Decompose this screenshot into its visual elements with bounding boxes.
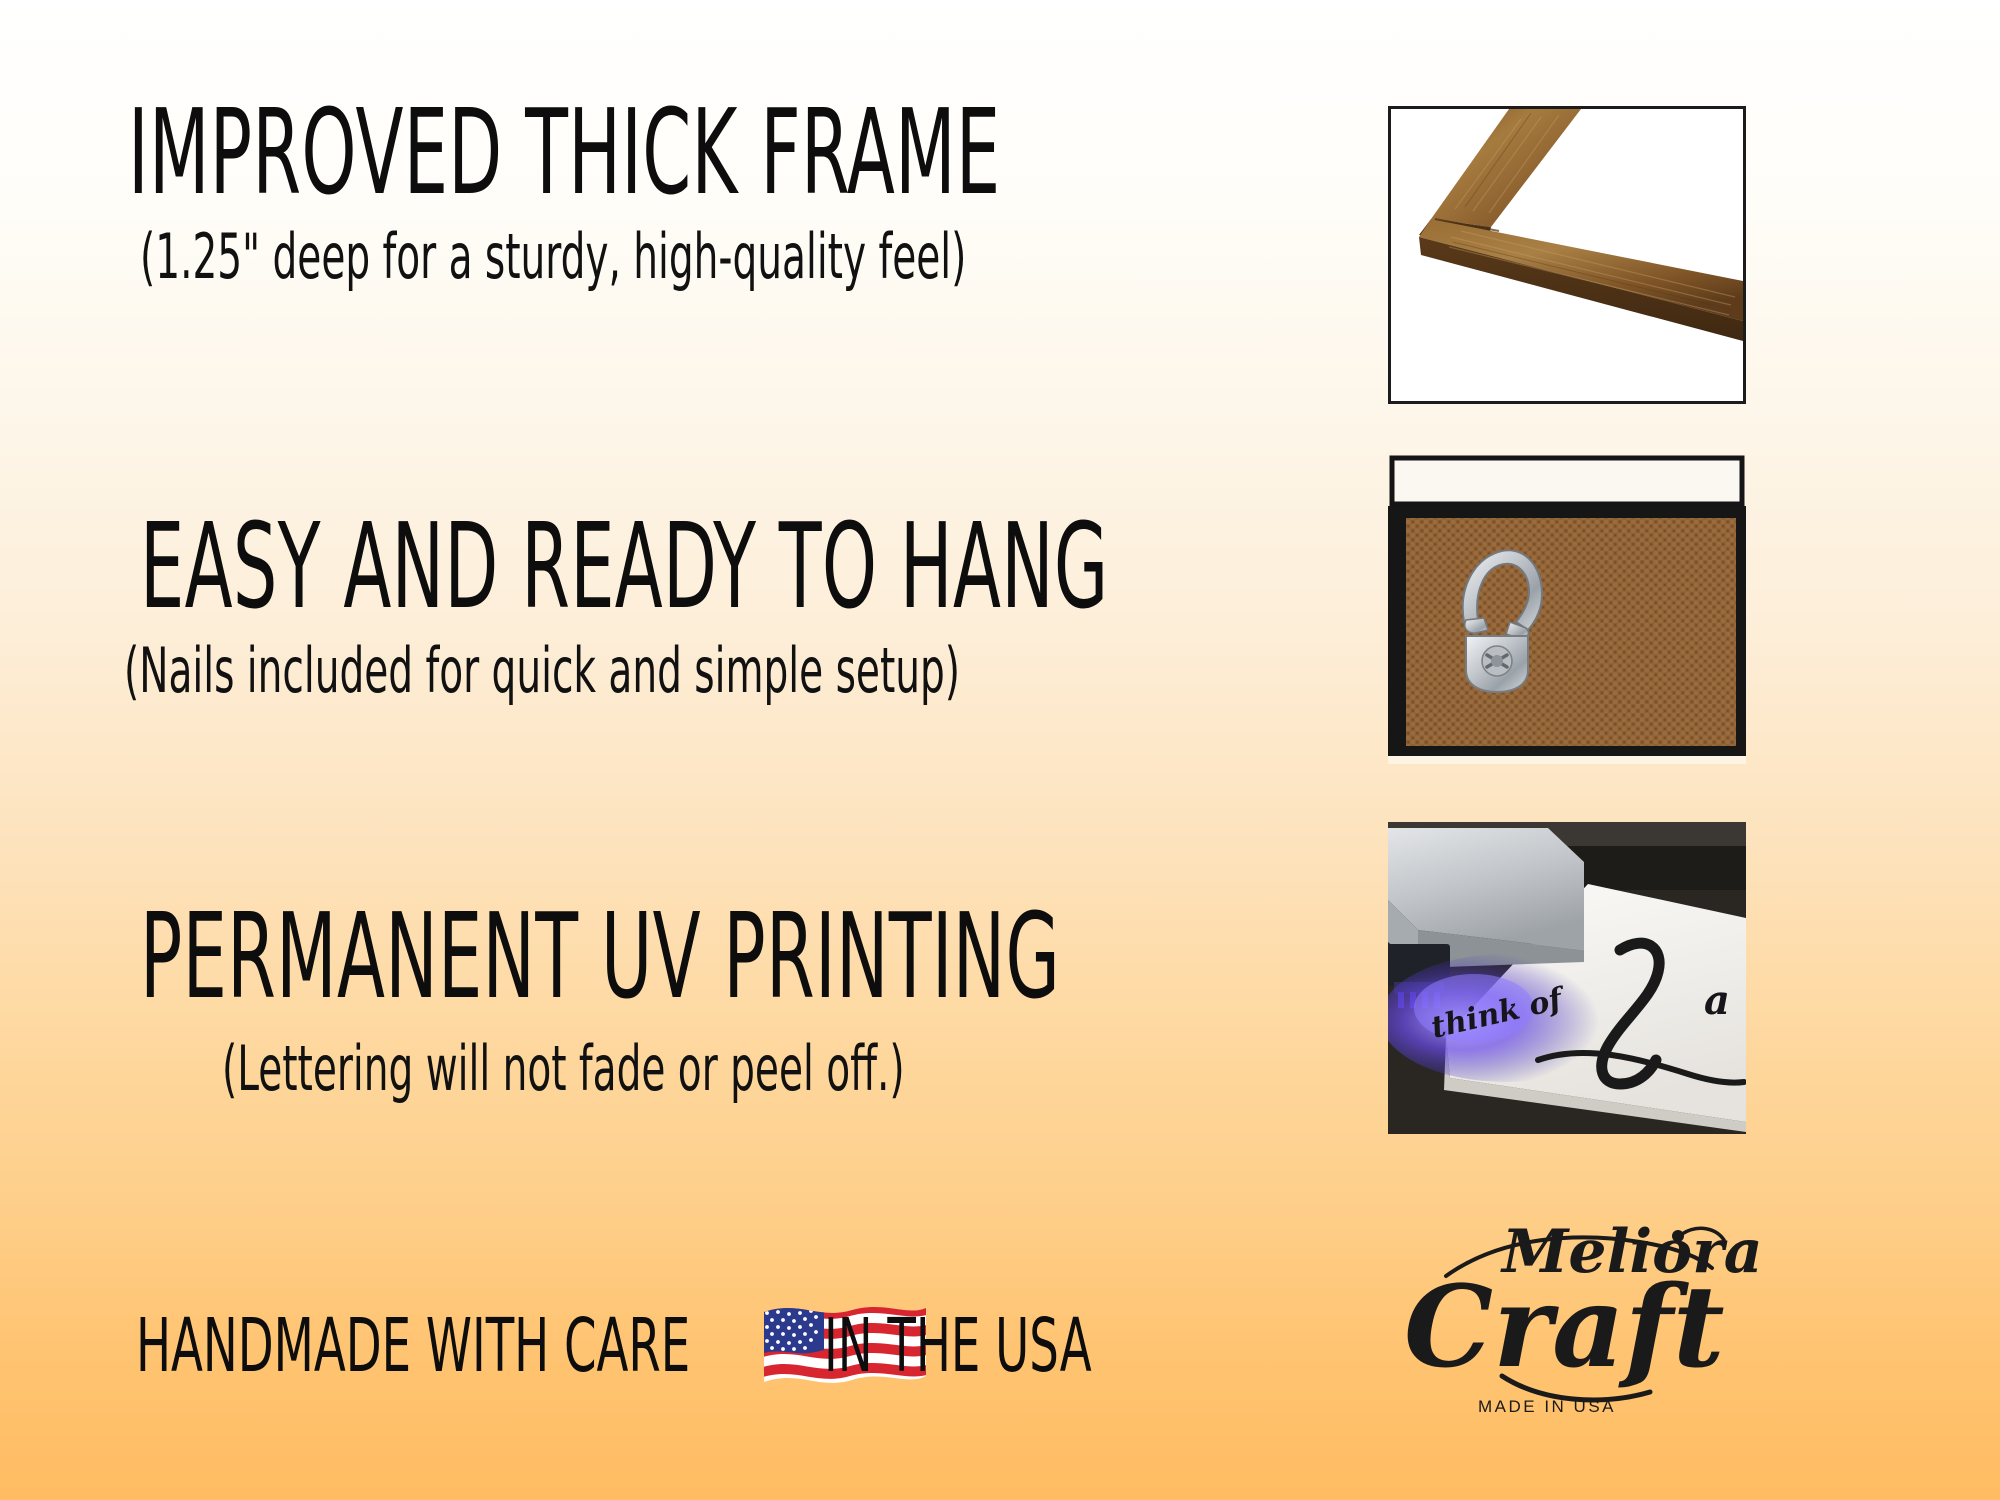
feature-heading-3: PERMANENT UV PRINTING <box>140 900 932 1012</box>
feature-block-improved-thick-frame: IMPROVED THICK FRAME (1.25" deep for a s… <box>0 96 1340 288</box>
feature-subtitle-2: (Nails included for quick and simple set… <box>124 640 975 702</box>
meliora-craft-logo: Meliora Craft MADE IN USA <box>1382 1180 1772 1430</box>
feature-subtitle-1: (1.25" deep for a sturdy, high-quality f… <box>140 226 980 288</box>
feature-text-column: IMPROVED THICK FRAME (1.25" deep for a s… <box>0 0 1340 1500</box>
hanging-hardware-photo <box>1388 452 1746 764</box>
feature-heading-2: EASY AND READY TO HANG <box>140 510 932 622</box>
uv-printhead-illustration: think of a <box>1388 822 1746 1134</box>
frame-corner-photo <box>1388 106 1746 404</box>
feature-subtitle-3: (Lettering will not fade or peel off.) <box>222 1038 1005 1100</box>
feature-heading-1: IMPROVED THICK FRAME <box>128 96 928 208</box>
uv-printer-photo: think of a <box>1388 822 1746 1134</box>
product-photo-column: think of a Meliora Craft MADE IN USA <box>1388 0 2000 1500</box>
feature-block-permanent-uv-printing: PERMANENT UV PRINTING (Lettering will no… <box>0 900 1340 1100</box>
tagline-part-2: IN THE USA <box>824 1309 1092 1383</box>
logo-made-in-usa: MADE IN USA <box>1478 1397 1616 1416</box>
brand-logo: Meliora Craft MADE IN USA <box>1382 1180 1772 1430</box>
uv-printed-text-3: a <box>1704 977 1730 1024</box>
footer-tagline: HANDMADE WITH CARE <box>0 1298 1340 1394</box>
infographic-canvas: IMPROVED THICK FRAME (1.25" deep for a s… <box>0 0 2000 1500</box>
feature-block-easy-ready-to-hang: EASY AND READY TO HANG (Nails included f… <box>0 510 1340 702</box>
d-ring-hanger-illustration <box>1388 452 1746 764</box>
logo-script-main: Craft <box>1404 1262 1725 1393</box>
tagline-part-1: HANDMADE WITH CARE <box>136 1309 690 1383</box>
frame-corner-illustration <box>1391 109 1743 401</box>
